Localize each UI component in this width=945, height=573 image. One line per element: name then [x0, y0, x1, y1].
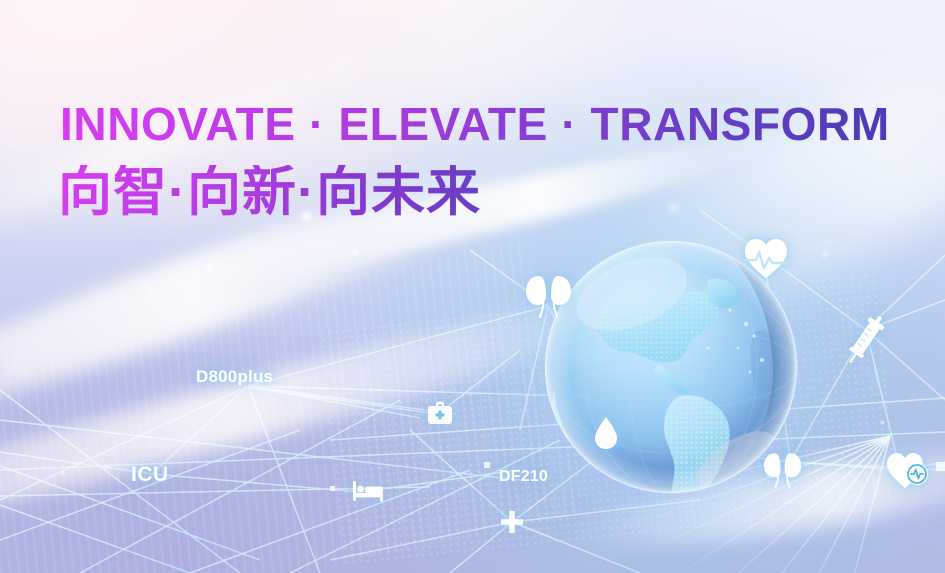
label-df210: DF210: [499, 468, 548, 486]
hospital-bed-icon: [353, 480, 385, 502]
label-icu: ICU: [131, 463, 169, 487]
label-d800plus: D800plus: [196, 367, 273, 387]
syringe-icon: [845, 312, 885, 368]
page-subtitle: 向智·向新·向未来: [58, 165, 481, 219]
blood-drop-icon: [593, 416, 619, 450]
heart-ecg-icon: [886, 452, 930, 490]
medical-cross-icon: [500, 510, 524, 534]
heart-pulse-icon: [744, 238, 788, 280]
first-aid-kit-icon: [427, 401, 453, 425]
promotional-banner: INNOVATE · ELEVATE · TRANSFORM 向智·向新·向未来…: [0, 0, 945, 573]
kidneys-icon: [763, 450, 803, 488]
page-title: INNOVATE · ELEVATE · TRANSFORM: [60, 101, 890, 147]
kidneys-icon: [525, 272, 573, 318]
globe-glow: [494, 190, 848, 544]
